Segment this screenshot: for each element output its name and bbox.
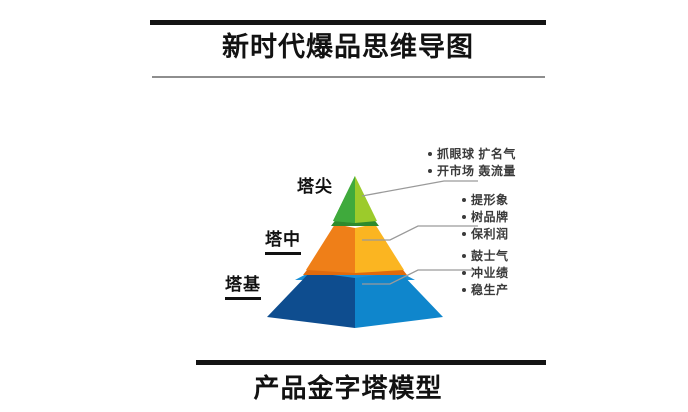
tier-label-middle: 塔中 (265, 225, 301, 255)
middle-tier-left-face (306, 224, 355, 273)
bullet-label: 提形象 (471, 193, 509, 207)
bullet-label: 冲业绩 (471, 266, 509, 280)
connector-line-middle (362, 226, 478, 240)
bullet-label: 鼓士气 (471, 249, 509, 263)
header-bottom-rule (152, 76, 545, 78)
bullet-dot-icon (462, 215, 466, 219)
bullet-dot-icon (462, 271, 466, 275)
connector-line-base (362, 270, 478, 284)
list-item: 保利润 (462, 226, 509, 242)
bullet-dot-icon (462, 232, 466, 236)
connector-line-top (362, 181, 478, 196)
bullet-label: 树品牌 (471, 210, 509, 224)
bullet-group-base: 鼓士气 冲业绩 稳生产 (462, 248, 509, 299)
page-title: 新时代爆品思维导图 (150, 29, 546, 65)
bullet-label: 稳生产 (471, 283, 509, 297)
header-top-rule (150, 20, 546, 25)
mindmap-poster: 新时代爆品思维导图 塔尖 塔中 塔基 (0, 0, 688, 412)
bullet-label: 抓眼球 扩名气 (437, 147, 516, 161)
list-item: 稳生产 (462, 282, 509, 298)
footer-top-rule (196, 360, 546, 365)
page-subtitle: 产品金字塔模型 (150, 371, 546, 405)
list-item: 鼓士气 (462, 248, 509, 264)
base-tier-left-face (267, 272, 355, 328)
top-tier-left-face-outer (333, 176, 355, 223)
list-item: 冲业绩 (462, 265, 509, 281)
bullet-dot-icon (462, 254, 466, 258)
bullet-group-middle: 提形象 树品牌 保利润 (462, 192, 509, 243)
list-item: 树品牌 (462, 209, 509, 225)
list-item: 提形象 (462, 192, 509, 208)
bullet-dot-icon (462, 288, 466, 292)
bullet-dot-icon (428, 152, 432, 156)
bullet-dot-icon (462, 198, 466, 202)
tier-label-top: 塔尖 (297, 172, 333, 199)
bullet-group-top: 抓眼球 扩名气 开市场 轰流量 (428, 146, 516, 180)
bullet-label: 保利润 (471, 227, 509, 241)
bullet-label: 开市场 轰流量 (437, 164, 516, 178)
list-item: 开市场 轰流量 (428, 163, 516, 179)
list-item: 抓眼球 扩名气 (428, 146, 516, 162)
tier-label-base: 塔基 (225, 270, 261, 300)
bullet-dot-icon (428, 169, 432, 173)
